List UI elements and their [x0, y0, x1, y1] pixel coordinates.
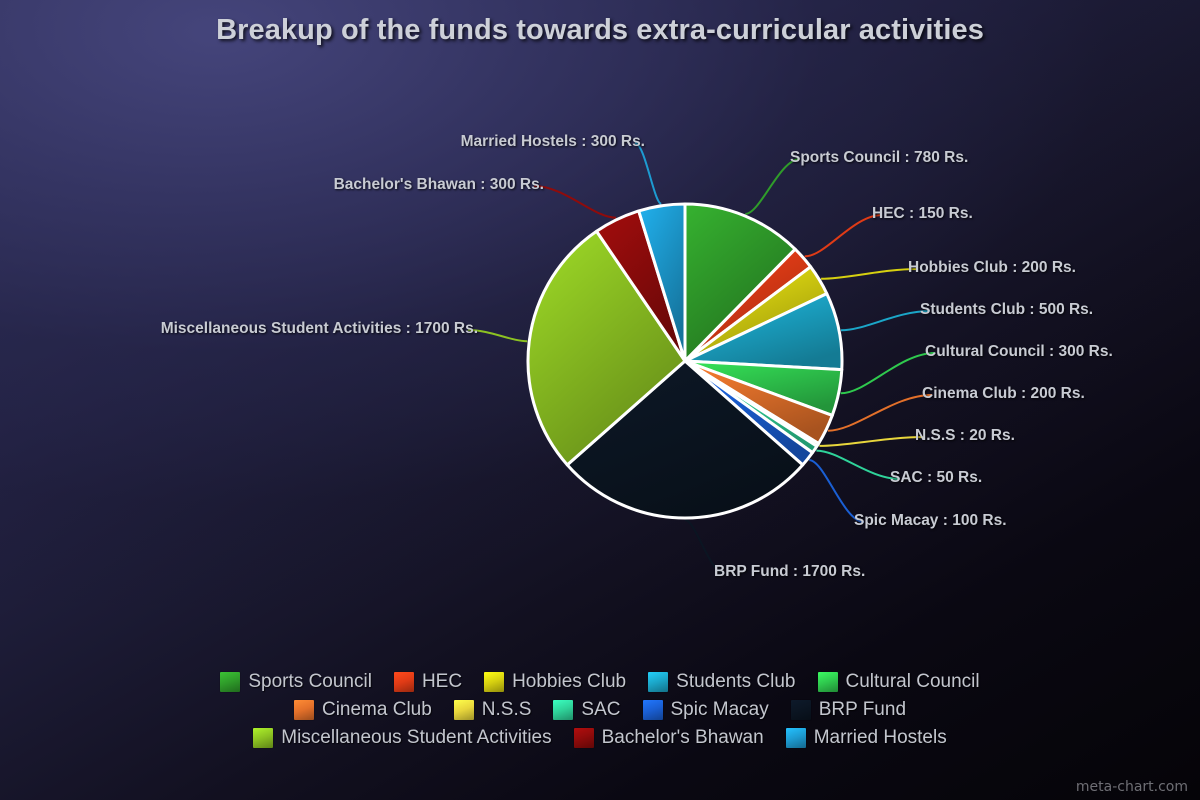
- chart-canvas: Breakup of the funds towards extra-curri…: [0, 0, 1200, 800]
- legend-item[interactable]: Sports Council: [220, 671, 372, 693]
- legend-item[interactable]: Hobbies Club: [484, 671, 626, 693]
- pie-callout-label: HEC : 150 Rs.: [872, 205, 973, 223]
- legend-item-label: Spic Macay: [671, 699, 769, 721]
- callout-leader-line: [828, 395, 932, 431]
- legend-color-swatch: [484, 672, 504, 692]
- legend-color-swatch: [253, 728, 273, 748]
- legend-row: Sports CouncilHECHobbies ClubStudents Cl…: [0, 668, 1200, 696]
- legend-color-swatch: [648, 672, 668, 692]
- legend-item[interactable]: HEC: [394, 671, 462, 693]
- legend-color-swatch: [553, 700, 573, 720]
- legend-color-swatch: [220, 672, 240, 692]
- callout-leader-line: [819, 437, 925, 446]
- legend-item[interactable]: Miscellaneous Student Activities: [253, 727, 551, 749]
- legend-item[interactable]: SAC: [553, 699, 620, 721]
- legend-color-swatch: [454, 700, 474, 720]
- callout-leader-line: [635, 143, 661, 204]
- callout-leader-line: [816, 451, 900, 479]
- pie-callout-label: Spic Macay : 100 Rs.: [854, 512, 1007, 530]
- legend-item[interactable]: Students Club: [648, 671, 795, 693]
- pie-chart-area: Sports Council : 780 Rs.HEC : 150 Rs.Hob…: [0, 0, 1200, 640]
- pie-callout-label: BRP Fund : 1700 Rs.: [714, 563, 865, 581]
- pie-callout-label: Students Club : 500 Rs.: [920, 301, 1093, 319]
- pie-callout-label: SAC : 50 Rs.: [890, 469, 982, 487]
- legend-item-label: Cinema Club: [322, 699, 432, 721]
- callout-leader-line: [821, 269, 918, 279]
- legend-item[interactable]: Cinema Club: [294, 699, 432, 721]
- callout-leader-line: [534, 186, 616, 218]
- pie-callout-label: Miscellaneous Student Activities : 1700 …: [161, 320, 478, 338]
- legend-item-label: Hobbies Club: [512, 671, 626, 693]
- legend-item[interactable]: BRP Fund: [791, 699, 906, 721]
- legend-item-label: Sports Council: [248, 671, 372, 693]
- pie-callout-label: Married Hostels : 300 Rs.: [461, 133, 645, 151]
- callout-leader-line: [841, 353, 935, 393]
- legend-item-label: Married Hostels: [814, 727, 947, 749]
- legend-item-label: Miscellaneous Student Activities: [281, 727, 551, 749]
- legend-item-label: BRP Fund: [819, 699, 906, 721]
- legend-item[interactable]: Married Hostels: [786, 727, 947, 749]
- legend-color-swatch: [294, 700, 314, 720]
- pie-callout-label: Sports Council : 780 Rs.: [790, 149, 968, 167]
- legend-row: Cinema ClubN.S.SSACSpic MacayBRP Fund: [0, 696, 1200, 724]
- pie-callout-label: Bachelor's Bhawan : 300 Rs.: [334, 176, 544, 194]
- legend: Sports CouncilHECHobbies ClubStudents Cl…: [0, 668, 1200, 752]
- legend-color-swatch: [574, 728, 594, 748]
- pie-callout-label: Cultural Council : 300 Rs.: [925, 343, 1113, 361]
- legend-item-label: Bachelor's Bhawan: [602, 727, 764, 749]
- legend-item[interactable]: N.S.S: [454, 699, 532, 721]
- legend-color-swatch: [786, 728, 806, 748]
- pie-slices-group: Sports Council : 780 Rs.HEC : 150 Rs.Hob…: [528, 204, 842, 518]
- legend-item[interactable]: Spic Macay: [643, 699, 769, 721]
- legend-color-swatch: [818, 672, 838, 692]
- watermark: meta-chart.com: [1076, 779, 1188, 795]
- legend-item[interactable]: Cultural Council: [818, 671, 980, 693]
- legend-color-swatch: [643, 700, 663, 720]
- legend-item-label: N.S.S: [482, 699, 532, 721]
- pie-callout-label: N.S.S : 20 Rs.: [915, 427, 1015, 445]
- legend-color-swatch: [394, 672, 414, 692]
- legend-item-label: HEC: [422, 671, 462, 693]
- legend-color-swatch: [791, 700, 811, 720]
- legend-item-label: Students Club: [676, 671, 795, 693]
- pie-callout-label: Hobbies Club : 200 Rs.: [908, 259, 1076, 277]
- pie-callout-label: Cinema Club : 200 Rs.: [922, 385, 1085, 403]
- legend-item[interactable]: Bachelor's Bhawan: [574, 727, 764, 749]
- callout-leader-line: [805, 215, 882, 256]
- callout-leader-line: [841, 311, 930, 330]
- callout-leader-line: [745, 159, 800, 214]
- legend-row: Miscellaneous Student ActivitiesBachelor…: [0, 724, 1200, 752]
- legend-item-label: SAC: [581, 699, 620, 721]
- legend-item-label: Cultural Council: [846, 671, 980, 693]
